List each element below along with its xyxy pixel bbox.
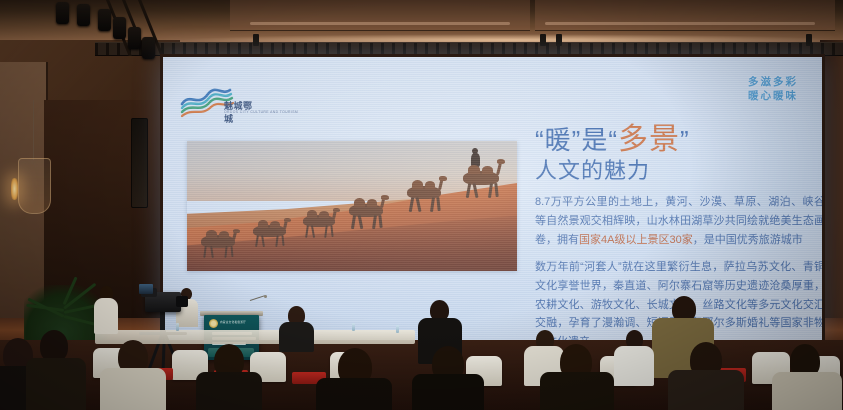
stage-light-icon [113, 17, 126, 39]
water-bottle [176, 323, 179, 331]
podium-emblem-icon [209, 319, 218, 328]
truss-light-icon [806, 34, 812, 46]
pendant-lamp-rod [33, 100, 34, 160]
slide-title: “暖”是“多景” 人文的魅力 [535, 123, 815, 183]
logo-subtext: ORDOS CITY CULTURE AND TOURISM [224, 110, 298, 114]
audience-torso-foreground [100, 368, 166, 410]
stage-light-icon [98, 9, 111, 31]
pendant-lamp [18, 158, 51, 214]
slide-canvas: 魅城鄂城 ORDOS CITY CULTURE AND TOURISM 多滋多彩… [163, 57, 822, 342]
truss-light-icon [540, 34, 546, 46]
truss-light-icon [556, 34, 562, 46]
corner-tag-line2: 暖心暖味 [748, 89, 798, 103]
wall-right [820, 40, 843, 340]
title-highlight: 多景 [618, 123, 680, 156]
water-bottle [352, 323, 355, 331]
title-post: ” [680, 125, 690, 155]
podium-brand-text: 内蒙古文化和旅游厅 [220, 320, 246, 324]
audience-torso-foreground [412, 374, 484, 410]
camel-figure-with-rider [459, 163, 507, 199]
slide-paragraph-1: 8.7万平方公里的土地上，黄河、沙漠、草原、湖泊、峡谷等自然景观交相辉映，山水林… [535, 193, 822, 250]
microphone-head-icon [264, 295, 267, 298]
stage-light-icon [128, 27, 141, 49]
conference-hall-scene: 魅城鄂城 ORDOS CITY CULTURE AND TOURISM 多滋多彩… [0, 0, 843, 410]
paragraph-1-highlight: 国家4A级以上景区30家 [579, 234, 693, 246]
standing-person-torso [94, 298, 118, 334]
camel-rider-head [472, 148, 478, 154]
audience-torso-foreground [316, 378, 392, 410]
truss-light-icon [253, 34, 259, 46]
audience-torso-foreground [26, 358, 86, 410]
audience-torso [279, 322, 314, 352]
camel-figure [403, 179, 449, 213]
camera-monitor-screen [139, 284, 153, 294]
stage-light-icon [56, 2, 69, 24]
audience-torso-foreground [540, 372, 614, 410]
water-bottle [396, 325, 399, 333]
audience-torso-foreground [772, 372, 842, 410]
corner-tag-line1: 多滋多彩 [748, 75, 798, 89]
camel-figure [345, 197, 391, 229]
camel-figure [249, 219, 293, 249]
stage-light-icon [77, 4, 90, 26]
brand-logo: 魅城鄂城 ORDOS CITY CULTURE AND TOURISM [180, 82, 254, 122]
audience-torso [614, 346, 654, 386]
slide-corner-tag: 多滋多彩 暖心暖味 [748, 75, 798, 103]
camel-caravan-desert-photo [187, 141, 517, 271]
paragraph-1-post: ，是中国优秀旅游城市 [693, 234, 803, 246]
line-array-speaker [131, 118, 148, 208]
audience-torso-foreground [668, 370, 744, 410]
projection-screen: 魅城鄂城 ORDOS CITY CULTURE AND TOURISM 多滋多彩… [163, 57, 822, 342]
pendant-lamp-bulb [11, 178, 18, 200]
slide-title-line1: “暖”是“多景” [535, 123, 815, 157]
camel-figure [299, 209, 343, 239]
front-table-row [95, 330, 415, 344]
audience-torso-foreground [196, 372, 262, 410]
camel-figure [197, 229, 241, 259]
slide-title-line2: 人文的魅力 [535, 159, 815, 184]
title-pre: “暖”是“ [535, 125, 618, 155]
stage-light-icon [142, 37, 155, 59]
camera-lens-icon [176, 296, 188, 307]
